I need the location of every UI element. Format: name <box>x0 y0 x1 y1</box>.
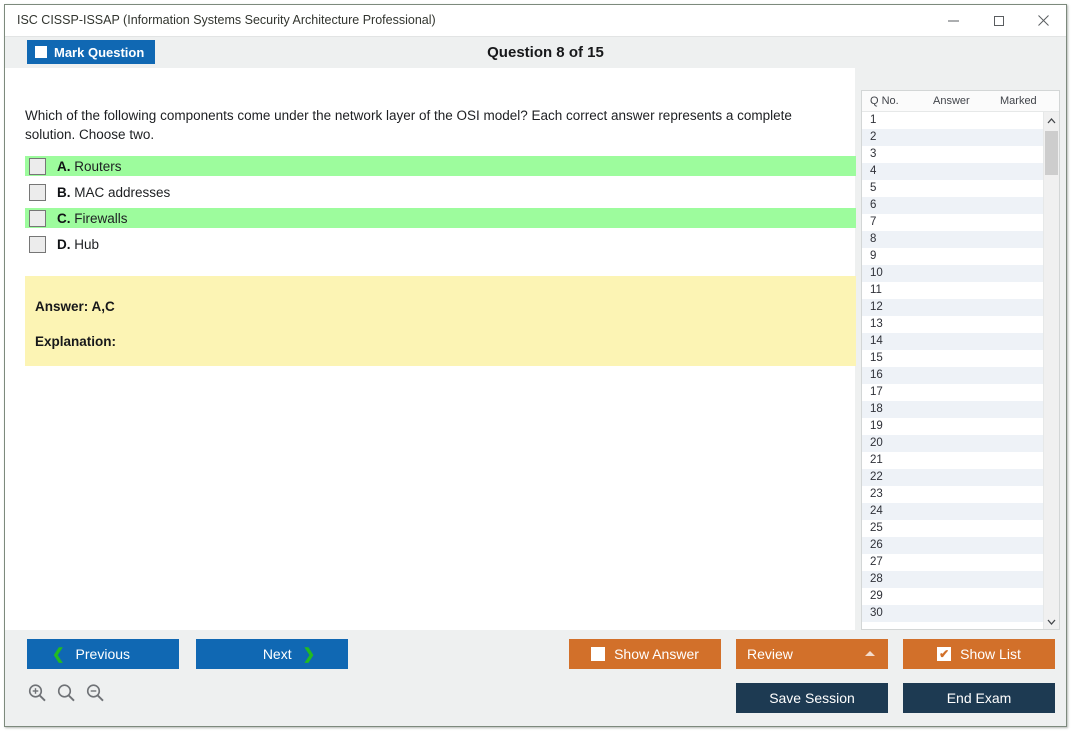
question-header-bar: Question 8 of 15 Mark Question <box>5 37 1066 68</box>
question-list-header: Q No. Answer Marked <box>862 91 1059 112</box>
column-header-answer: Answer <box>933 95 970 107</box>
question-list-row[interactable]: 6 <box>862 197 1059 214</box>
question-list-row[interactable]: 24 <box>862 503 1059 520</box>
question-row-number: 22 <box>870 471 883 483</box>
scroll-down-button[interactable] <box>1044 613 1059 629</box>
end-exam-label: End Exam <box>947 690 1012 706</box>
close-button[interactable] <box>1021 5 1066 36</box>
option-text-b: MAC addresses <box>74 185 170 200</box>
scrollbar-thumb[interactable] <box>1045 131 1058 175</box>
option-checkbox-b[interactable] <box>29 184 46 201</box>
previous-label: Previous <box>76 646 130 662</box>
question-row-number: 30 <box>870 607 883 619</box>
question-row-number: 26 <box>870 539 883 551</box>
question-row-number: 12 <box>870 301 883 313</box>
show-list-button[interactable]: ✔ Show List <box>903 639 1055 669</box>
question-list-row[interactable]: 27 <box>862 554 1059 571</box>
question-row-number: 25 <box>870 522 883 534</box>
show-answer-checkbox[interactable] <box>591 647 605 661</box>
question-panel: Which of the following components come u… <box>5 68 856 630</box>
window-controls <box>931 5 1066 36</box>
save-session-button[interactable]: Save Session <box>736 683 888 713</box>
question-list-row[interactable]: 28 <box>862 571 1059 588</box>
question-row-number: 8 <box>870 233 876 245</box>
question-list-panel: Q No. Answer Marked 12345678910111213141… <box>861 90 1060 630</box>
question-row-number: 29 <box>870 590 883 602</box>
zoom-reset-icon[interactable] <box>56 683 76 708</box>
option-checkbox-a[interactable] <box>29 158 46 175</box>
end-exam-button[interactable]: End Exam <box>903 683 1055 713</box>
option-row-b[interactable]: B. MAC addresses <box>25 182 856 202</box>
question-text: Which of the following components come u… <box>25 106 831 144</box>
scroll-up-button[interactable] <box>1044 112 1059 128</box>
option-letter-a: A. <box>57 159 71 174</box>
review-dropdown[interactable]: Review <box>736 639 888 669</box>
question-row-number: 13 <box>870 318 883 330</box>
question-list-row[interactable]: 10 <box>862 265 1059 282</box>
question-list-row[interactable]: 16 <box>862 367 1059 384</box>
column-header-marked: Marked <box>1000 95 1037 107</box>
zoom-in-icon[interactable] <box>27 683 47 708</box>
minimize-icon <box>947 15 960 26</box>
option-label-b: B. MAC addresses <box>57 185 170 200</box>
question-list-row[interactable]: 11 <box>862 282 1059 299</box>
question-row-number: 19 <box>870 420 883 432</box>
question-list-row[interactable]: 21 <box>862 452 1059 469</box>
next-button[interactable]: Next ❯ <box>196 639 348 669</box>
question-list-row[interactable]: 30 <box>862 605 1059 622</box>
question-row-number: 15 <box>870 352 883 364</box>
question-list-row[interactable]: 8 <box>862 231 1059 248</box>
page-title: Question 8 of 15 <box>5 37 1066 68</box>
option-letter-d: D. <box>57 237 71 252</box>
minimize-button[interactable] <box>931 5 976 36</box>
option-letter-b: B. <box>57 185 71 200</box>
window-title: ISC CISSP-ISSAP (Information Systems Sec… <box>17 13 436 27</box>
question-row-number: 11 <box>870 284 882 296</box>
question-list-row[interactable]: 2 <box>862 129 1059 146</box>
option-checkbox-c[interactable] <box>29 210 46 227</box>
question-row-number: 23 <box>870 488 883 500</box>
question-list-row[interactable]: 3 <box>862 146 1059 163</box>
column-header-qno: Q No. <box>870 95 899 107</box>
review-label: Review <box>747 646 793 662</box>
question-list-row[interactable]: 9 <box>862 248 1059 265</box>
question-list-rows[interactable]: 1234567891011121314151617181920212223242… <box>862 112 1059 629</box>
question-row-number: 20 <box>870 437 883 449</box>
chevron-down-icon <box>1047 612 1056 630</box>
question-list-row[interactable]: 22 <box>862 469 1059 486</box>
chevron-right-icon: ❯ <box>303 645 316 663</box>
chevron-up-icon <box>865 651 875 656</box>
option-row-d[interactable]: D. Hub <box>25 234 856 254</box>
question-list-row[interactable]: 25 <box>862 520 1059 537</box>
question-list-row[interactable]: 18 <box>862 401 1059 418</box>
option-label-d: D. Hub <box>57 237 99 252</box>
option-row-a[interactable]: A. Routers <box>25 156 856 176</box>
option-row-c[interactable]: C. Firewalls <box>25 208 856 228</box>
option-text-d: Hub <box>74 237 99 252</box>
question-row-number: 16 <box>870 369 883 381</box>
chevron-left-icon: ❮ <box>52 645 65 663</box>
question-row-number: 18 <box>870 403 883 415</box>
question-list-row[interactable]: 20 <box>862 435 1059 452</box>
option-label-a: A. Routers <box>57 159 122 174</box>
question-row-number: 2 <box>870 131 876 143</box>
question-row-number: 27 <box>870 556 883 568</box>
question-row-number: 6 <box>870 199 876 211</box>
question-list-row[interactable]: 14 <box>862 333 1059 350</box>
explanation-heading: Explanation: <box>35 334 856 349</box>
question-list-row[interactable]: 29 <box>862 588 1059 605</box>
answer-value: Answer: A,C <box>35 299 856 314</box>
question-list-row[interactable]: 23 <box>862 486 1059 503</box>
question-row-number: 28 <box>870 573 883 585</box>
question-row-number: 9 <box>870 250 876 262</box>
mark-question-label: Mark Question <box>54 45 144 60</box>
question-row-number: 24 <box>870 505 883 517</box>
question-list-row[interactable]: 26 <box>862 537 1059 554</box>
question-list-row[interactable]: 5 <box>862 180 1059 197</box>
title-bar: ISC CISSP-ISSAP (Information Systems Sec… <box>5 5 1066 37</box>
question-row-number: 4 <box>870 165 876 177</box>
show-answer-label: Show Answer <box>614 646 699 662</box>
mark-question-button[interactable]: Mark Question <box>27 40 155 64</box>
chevron-up-icon <box>1047 111 1056 129</box>
question-list-row[interactable]: 12 <box>862 299 1059 316</box>
question-list-row[interactable]: 7 <box>862 214 1059 231</box>
maximize-icon <box>993 15 1005 27</box>
zoom-toolbar <box>27 683 105 708</box>
question-row-number: 14 <box>870 335 883 347</box>
question-row-number: 10 <box>870 267 883 279</box>
maximize-button[interactable] <box>976 5 1021 36</box>
question-row-number: 5 <box>870 182 876 194</box>
question-row-number: 17 <box>870 386 883 398</box>
exam-application-window: ISC CISSP-ISSAP (Information Systems Sec… <box>4 4 1067 727</box>
option-text-c: Firewalls <box>74 211 127 226</box>
previous-button[interactable]: ❮ Previous <box>27 639 179 669</box>
question-list-row[interactable]: 15 <box>862 350 1059 367</box>
save-session-label: Save Session <box>769 690 855 706</box>
question-list-row[interactable]: 17 <box>862 384 1059 401</box>
question-row-number: 1 <box>870 114 876 126</box>
answer-explanation-panel: Answer: A,C Explanation: <box>25 276 856 366</box>
question-list-scrollbar[interactable] <box>1043 112 1059 629</box>
answer-options-list: A. Routers B. MAC addresses C. Firewalls… <box>25 156 856 260</box>
question-list-row[interactable]: 4 <box>862 163 1059 180</box>
show-list-checkbox[interactable]: ✔ <box>937 647 951 661</box>
close-icon <box>1037 14 1050 27</box>
question-row-number: 3 <box>870 148 876 160</box>
mark-question-checkbox[interactable] <box>35 46 47 58</box>
show-list-label: Show List <box>960 646 1021 662</box>
next-label: Next <box>263 646 292 662</box>
question-list-row[interactable]: 1 <box>862 112 1059 129</box>
option-text-a: Routers <box>74 159 121 174</box>
zoom-out-icon[interactable] <box>85 683 105 708</box>
option-checkbox-d[interactable] <box>29 236 46 253</box>
question-list-row[interactable]: 13 <box>862 316 1059 333</box>
question-list-row[interactable]: 19 <box>862 418 1059 435</box>
option-label-c: C. Firewalls <box>57 211 128 226</box>
question-row-number: 7 <box>870 216 876 228</box>
show-answer-button[interactable]: Show Answer <box>569 639 721 669</box>
option-letter-c: C. <box>57 211 71 226</box>
question-row-number: 21 <box>870 454 883 466</box>
